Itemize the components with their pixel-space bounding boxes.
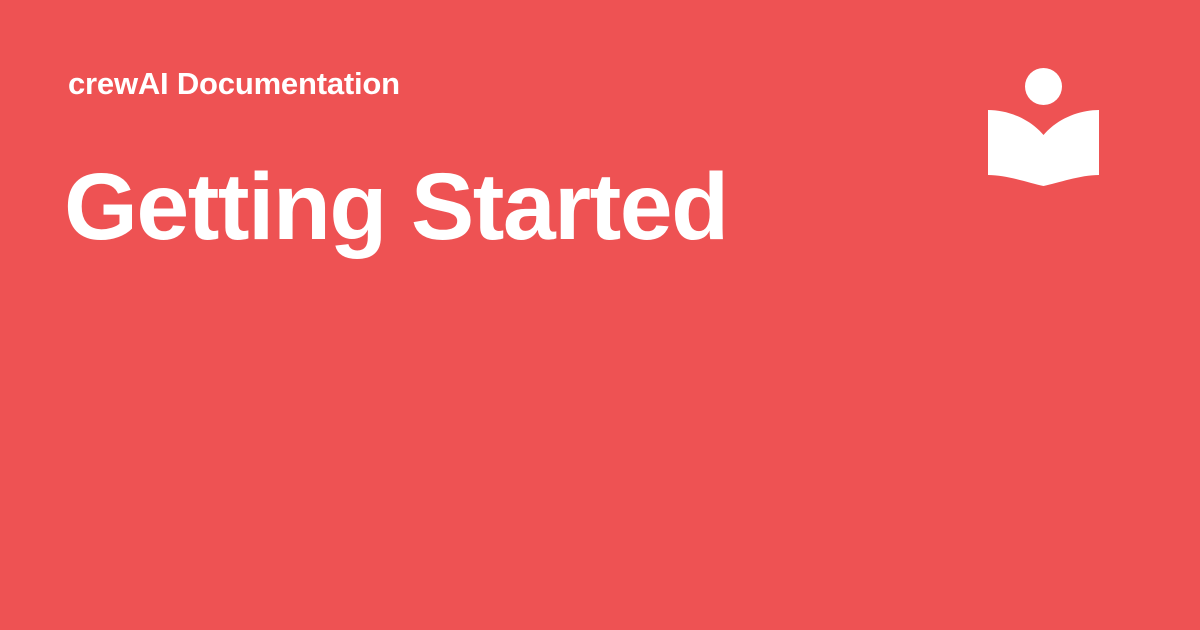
open-graph-card: crewAI Documentation Getting Started [0,0,1200,630]
open-book-icon [988,110,1099,186]
reader-head-icon [1025,68,1062,105]
site-name-eyebrow: crewAI Documentation [68,68,400,99]
open-book-reader-icon [985,62,1103,192]
card-text-block: crewAI Documentation Getting Started [68,0,968,630]
page-title: Getting Started [64,160,728,255]
brand-logo [985,62,1103,192]
